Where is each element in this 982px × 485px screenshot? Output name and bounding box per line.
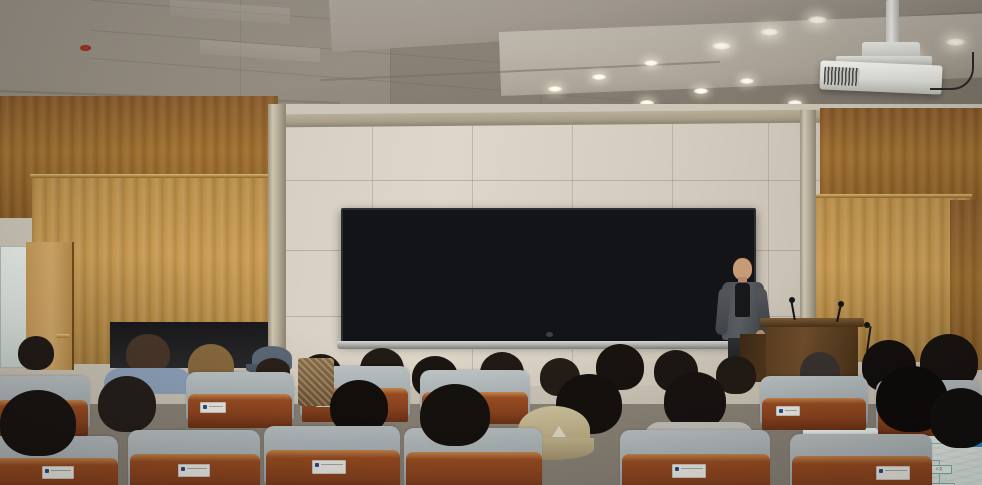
downlight-4 [644, 60, 658, 66]
seat-number-plate-r2-2 [200, 402, 226, 413]
microphone-icon-lectern-2 [838, 301, 844, 307]
left-wall-rail [30, 174, 282, 178]
audience-head-b1 [18, 336, 54, 370]
seat-frame-r1-6 [792, 456, 932, 485]
audience-area [0, 330, 982, 485]
presentation-display[interactable]: 全球化 城市发展 可持续性 资源 空间 人文 生态环境保护 城市更新与设计 社会… [341, 208, 756, 344]
sprinkler-icon [80, 45, 91, 51]
seat-number-plate-r1-3 [312, 460, 346, 474]
downlight-3 [808, 16, 827, 24]
seat-frame-r1-4 [406, 452, 542, 485]
downlight-2 [760, 28, 779, 36]
audience-head-f1 [0, 390, 76, 456]
seat-number-plate-r1-5 [672, 464, 706, 478]
seat-number-plate-r1-1 [42, 466, 74, 479]
patterned-handbag [298, 358, 334, 406]
audience-head-m1 [98, 376, 156, 432]
right-wall-rail [812, 194, 972, 198]
downlight-1 [712, 42, 731, 50]
downlight-6 [548, 86, 562, 92]
left-pillar [268, 104, 286, 366]
seat-number-plate-r2-5 [776, 406, 800, 416]
downlight-11 [740, 78, 754, 84]
lectern-top [760, 318, 864, 327]
projector-pole [886, 0, 899, 46]
microphone-icon-right [864, 322, 870, 328]
microphone-icon-lectern-1 [789, 297, 795, 303]
seat-number-plate-r1-2 [178, 464, 210, 477]
seat-number-plate-r1-6 [876, 466, 910, 480]
audience-head-f3 [930, 388, 982, 448]
audience-head-f2 [420, 384, 490, 446]
lecture-hall-photo: 全球化 城市发展 可持续性 资源 空间 人文 生态环境保护 城市更新与设计 社会… [0, 0, 982, 485]
presenter-shirt [735, 283, 750, 317]
projector [819, 60, 942, 94]
downlight-5 [592, 74, 606, 80]
downlight-10 [694, 88, 708, 94]
projector-vent-icon [824, 67, 860, 87]
downlight-9 [946, 38, 965, 46]
